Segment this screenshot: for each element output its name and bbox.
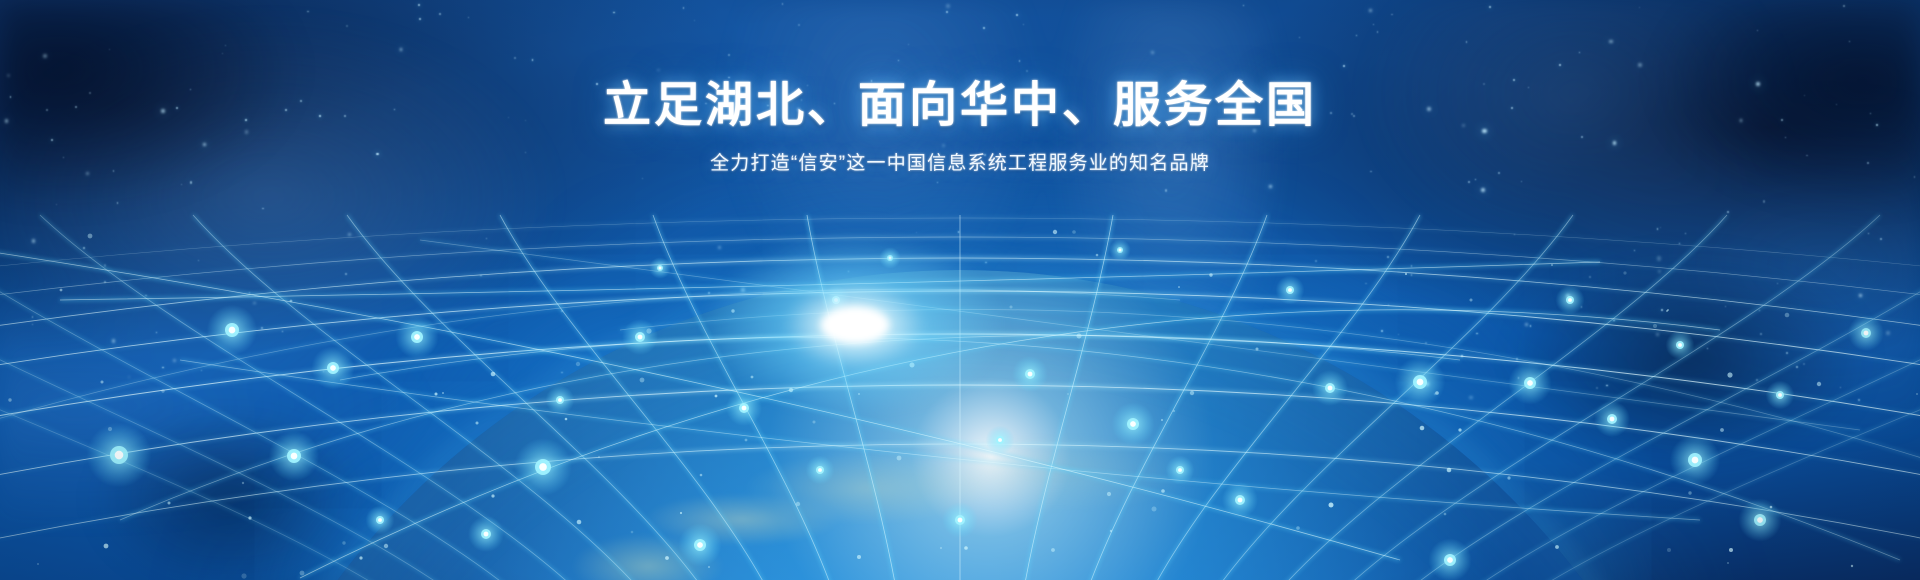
page-title: 立足湖北、面向华中、服务全国 — [0, 78, 1920, 135]
page-subtitle: 全力打造“信安”这一中国信息系统工程服务业的知名品牌 — [0, 151, 1920, 178]
banner-copy: 立足湖北、面向华中、服务全国 全力打造“信安”这一中国信息系统工程服务业的知名品… — [0, 78, 1920, 177]
hero-banner: 立足湖北、面向华中、服务全国 全力打造“信安”这一中国信息系统工程服务业的知名品… — [0, 0, 1920, 580]
